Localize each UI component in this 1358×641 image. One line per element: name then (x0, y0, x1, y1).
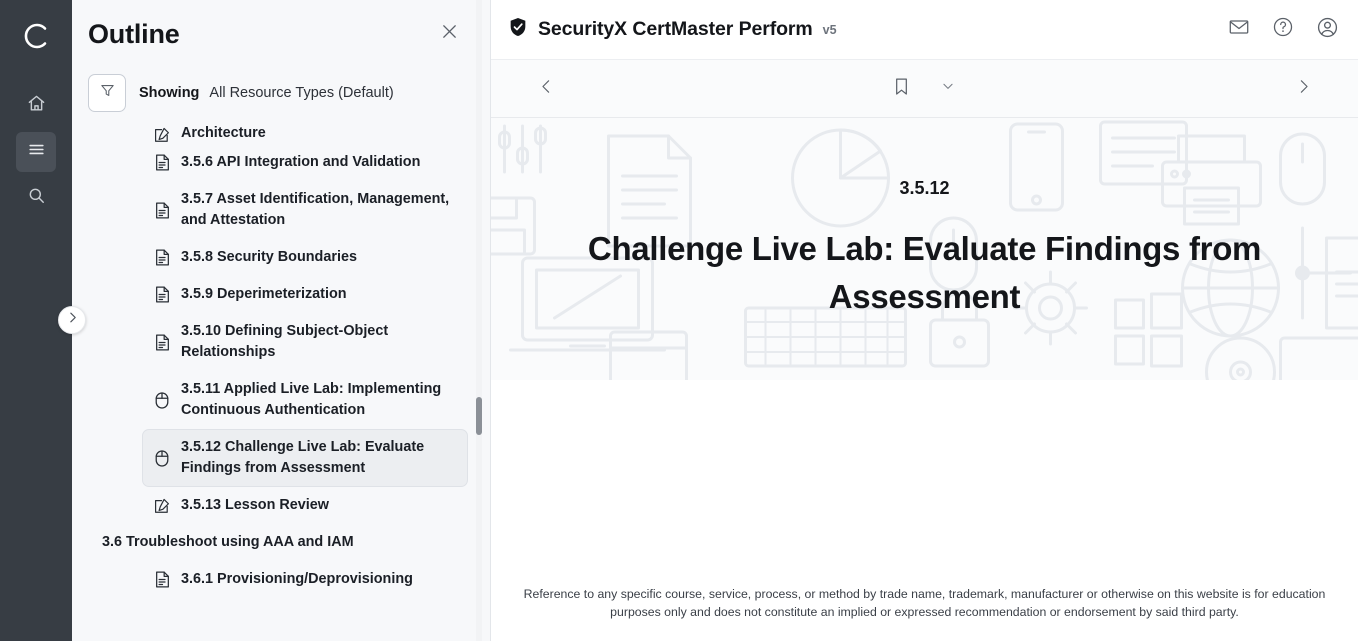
close-icon (439, 21, 460, 47)
outline-scroll-area[interactable]: Architecture3.5.6 API Integration and Va… (72, 124, 490, 641)
outline-item[interactable]: 3.5.13 Lesson Review (142, 487, 468, 524)
document-icon (154, 249, 170, 267)
showing-label: Showing (139, 85, 199, 101)
outline-item[interactable]: 3.6 Troubleshoot using AAA and IAM (90, 524, 468, 561)
document-icon (154, 201, 170, 219)
help-button[interactable] (1270, 17, 1296, 43)
chevron-left-icon (538, 78, 555, 100)
showing-value[interactable]: All Resource Types (Default) (209, 85, 393, 101)
page-title: Outline (88, 19, 434, 50)
header-icons (1226, 17, 1340, 43)
chevron-right-icon (1295, 78, 1312, 100)
outline-item-label: 3.5.10 Defining Subject-Object Relations… (181, 321, 456, 363)
main-area: SecurityX CertMaster Perform v5 (491, 0, 1358, 641)
outline-panel: Outline Showing All Resource Types (Defa… (72, 0, 491, 641)
edit-icon (154, 497, 170, 515)
sidebar-item-search[interactable] (16, 178, 56, 218)
next-page-button[interactable] (1288, 74, 1318, 104)
outline-item-label: 3.5.8 Security Boundaries (181, 247, 357, 268)
legal-disclaimer: Reference to any specific course, servic… (491, 585, 1358, 641)
outline-item-label: 3.5.7 Asset Identification, Management, … (181, 189, 456, 231)
filter-row: Showing All Resource Types (Default) (72, 68, 490, 124)
user-account-icon (1316, 16, 1339, 44)
chevron-down-icon (941, 79, 955, 98)
content-toolbar (491, 60, 1358, 118)
lesson-number: 3.5.12 (531, 178, 1318, 199)
product-name: SecurityX CertMaster Perform (538, 18, 813, 41)
outline-item[interactable]: 3.5.11 Applied Live Lab: Implementing Co… (142, 371, 468, 429)
document-icon (154, 154, 170, 172)
outline-item-label: 3.6.1 Provisioning/Deprovisioning (181, 569, 413, 590)
outline-scrollbar-track[interactable] (476, 0, 482, 641)
outline-item-label: 3.6 Troubleshoot using AAA and IAM (102, 532, 354, 553)
outline-item[interactable]: Architecture (142, 124, 468, 144)
bookmark-button[interactable] (887, 74, 917, 104)
comptia-c-logo-icon (14, 14, 58, 58)
product-version: v5 (823, 23, 837, 37)
lesson-title: Challenge Live Lab: Evaluate Findings fr… (531, 225, 1318, 321)
account-button[interactable] (1314, 17, 1340, 43)
previous-page-button[interactable] (531, 74, 561, 104)
app-root: Outline Showing All Resource Types (Defa… (0, 0, 1358, 641)
document-icon (154, 571, 170, 589)
home-icon (27, 94, 46, 118)
shield-check-icon (507, 16, 529, 43)
messages-button[interactable] (1226, 17, 1252, 43)
outline-list: Architecture3.5.6 API Integration and Va… (84, 124, 468, 598)
chevron-right-icon (66, 311, 79, 329)
outline-item-label: Architecture (181, 124, 266, 144)
mouse-icon (154, 449, 170, 467)
close-outline-button[interactable] (434, 19, 464, 49)
outline-item[interactable]: 3.6.1 Provisioning/Deprovisioning (142, 561, 468, 598)
outline-scrollbar-thumb[interactable] (476, 397, 482, 435)
outline-item-selected[interactable]: 3.5.12 Challenge Live Lab: Evaluate Find… (142, 429, 468, 487)
filter-button[interactable] (88, 74, 126, 112)
outline-item[interactable]: 3.5.10 Defining Subject-Object Relations… (142, 313, 468, 371)
bookmark-controls (491, 74, 1358, 104)
search-icon (27, 186, 46, 210)
hamburger-menu-icon (27, 140, 46, 164)
outline-item[interactable]: 3.5.9 Deperimeterization (142, 276, 468, 313)
content-body (491, 380, 1358, 585)
bookmark-icon (891, 76, 912, 102)
collapse-sidebar-handle[interactable] (58, 306, 86, 334)
outline-item-label: 3.5.9 Deperimeterization (181, 284, 347, 305)
rail-items (16, 86, 56, 218)
filter-funnel-icon (99, 82, 116, 104)
brand: SecurityX CertMaster Perform v5 (507, 16, 837, 43)
banner-content: 3.5.12 Challenge Live Lab: Evaluate Find… (491, 178, 1358, 321)
outline-item-label: 3.5.6 API Integration and Validation (181, 152, 420, 173)
lesson-banner: 3.5.12 Challenge Live Lab: Evaluate Find… (491, 118, 1358, 380)
bookmark-dropdown-button[interactable] (933, 74, 963, 104)
edit-icon (154, 126, 170, 144)
sidebar-item-home[interactable] (16, 86, 56, 126)
mail-icon (1228, 16, 1250, 43)
document-icon (154, 286, 170, 304)
outline-item-label: 3.5.13 Lesson Review (181, 495, 329, 516)
sidebar-item-outline[interactable] (16, 132, 56, 172)
mouse-icon (154, 391, 170, 409)
outline-item-label: 3.5.12 Challenge Live Lab: Evaluate Find… (181, 437, 456, 479)
app-header: SecurityX CertMaster Perform v5 (491, 0, 1358, 60)
help-circle-icon (1272, 16, 1294, 43)
outline-item[interactable]: 3.5.7 Asset Identification, Management, … (142, 181, 468, 239)
outline-item[interactable]: 3.5.6 API Integration and Validation (142, 144, 468, 181)
outline-item-label: 3.5.11 Applied Live Lab: Implementing Co… (181, 379, 456, 421)
outline-item[interactable]: 3.5.8 Security Boundaries (142, 239, 468, 276)
document-icon (154, 333, 170, 351)
outline-header: Outline (72, 0, 490, 68)
